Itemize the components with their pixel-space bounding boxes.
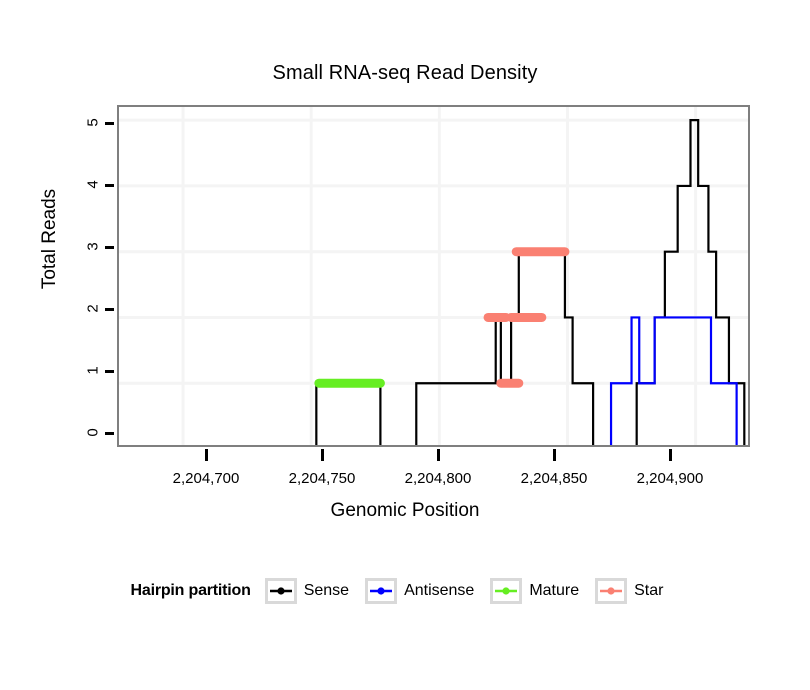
legend-key-sense-icon [265,578,297,604]
y-tick-mark-1 [105,370,114,373]
y-tick-mark-4 [105,184,114,187]
y-axis-label: Total Reads [39,129,61,349]
legend-title: Hairpin partition [131,582,251,600]
y-tick-mark-3 [105,246,114,249]
legend-label-mature: Mature [529,582,579,600]
legend-key-mature-icon [490,578,522,604]
grid-lines [119,107,750,447]
chart-legend: Hairpin partition Sense Antisense [0,578,810,604]
legend-label-star: Star [634,582,663,600]
legend-entry-sense[interactable]: Sense [265,578,359,604]
y-tick-label-3: 3 [85,230,102,264]
legend-key-antisense-icon [365,578,397,604]
chart-figure: Small RNA-seq Read Density Total Reads G… [0,0,810,690]
x-tick-mark-1 [321,449,324,461]
x-tick-mark-0 [205,449,208,461]
legend-entry-antisense[interactable]: Antisense [365,578,484,604]
y-tick-mark-2 [105,308,114,311]
data-series-layer [150,120,747,447]
legend-entry-star[interactable]: Star [595,578,673,604]
x-tick-mark-2 [437,449,440,461]
x-tick-label-2: 2,204,800 [378,470,498,487]
x-axis-label: Genomic Position [0,500,810,522]
y-tick-mark-5 [105,122,114,125]
y-tick-label-4: 4 [85,168,102,202]
chart-title: Small RNA-seq Read Density [0,62,810,85]
x-tick-mark-3 [553,449,556,461]
x-tick-mark-4 [669,449,672,461]
legend-label-antisense: Antisense [404,582,474,600]
plot-panel [117,105,750,447]
x-tick-label-1: 2,204,750 [262,470,382,487]
x-tick-label-0: 2,204,700 [146,470,266,487]
y-tick-label-2: 2 [85,292,102,326]
y-tick-label-5: 5 [85,106,102,140]
plot-area [119,107,750,447]
x-tick-label-4: 2,204,900 [610,470,730,487]
legend-entry-mature[interactable]: Mature [490,578,589,604]
legend-label-sense: Sense [304,582,349,600]
series-line-sense [150,120,745,447]
y-tick-label-0: 0 [85,416,102,450]
y-tick-label-1: 1 [85,354,102,388]
legend-key-star-icon [595,578,627,604]
x-tick-label-3: 2,204,850 [494,470,614,487]
y-tick-mark-0 [105,432,114,435]
